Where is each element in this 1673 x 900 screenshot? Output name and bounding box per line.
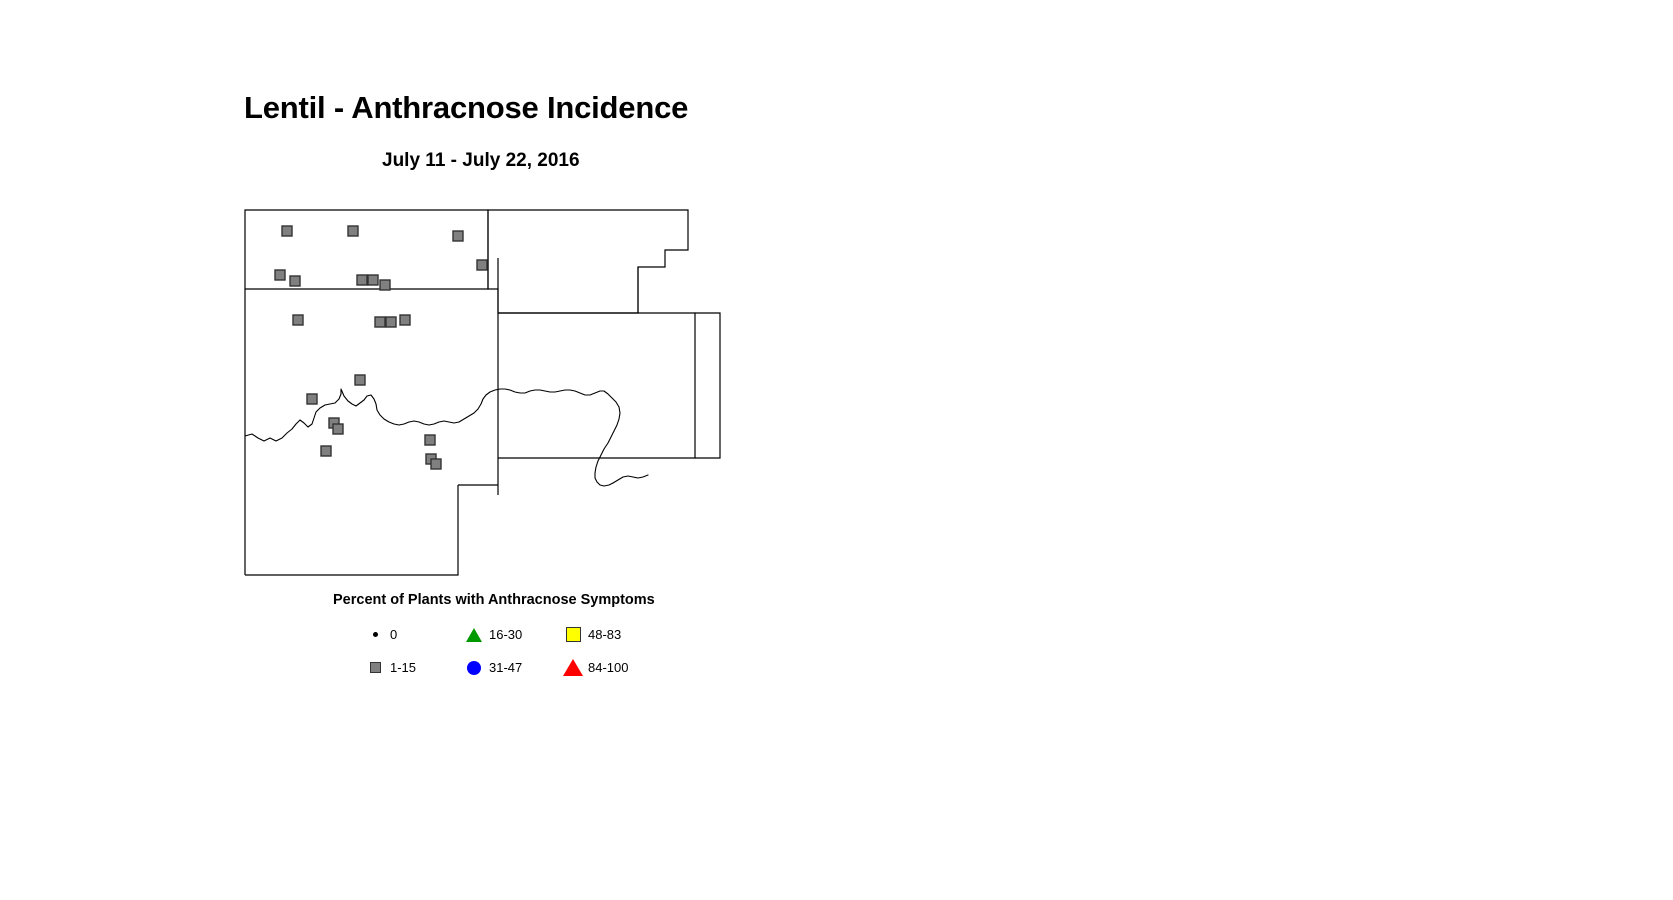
legend-row-top: 0 16-30 48-83: [360, 618, 690, 651]
legend: 0 16-30 48-83 1-15 31-47 84-100: [360, 618, 690, 684]
marker-1-15[interactable]: [333, 424, 343, 434]
boundary-west-bottom: [245, 485, 458, 575]
marker-1-15[interactable]: [425, 435, 435, 445]
marker-1-15[interactable]: [321, 446, 331, 456]
map-svg: [240, 205, 740, 590]
boundary-north-central-block: [488, 210, 688, 313]
marker-1-15[interactable]: [380, 280, 390, 290]
red-triangle-icon: [558, 659, 588, 676]
legend-item-0[interactable]: 0: [360, 627, 459, 642]
marker-1-15[interactable]: [368, 275, 378, 285]
legend-item-48-83[interactable]: 48-83: [558, 627, 657, 642]
blue-circle-icon: [459, 661, 489, 675]
legend-row-bottom: 1-15 31-47 84-100: [360, 651, 690, 684]
legend-label-84-100: 84-100: [588, 660, 628, 675]
legend-item-84-100[interactable]: 84-100: [558, 659, 657, 676]
river-boundary-east: [613, 475, 648, 483]
legend-item-1-15[interactable]: 1-15: [360, 660, 459, 675]
legend-item-31-47[interactable]: 31-47: [459, 660, 558, 675]
page-title: Lentil - Anthracnose Incidence: [244, 90, 688, 126]
marker-1-15[interactable]: [355, 375, 365, 385]
marker-1-15[interactable]: [386, 317, 396, 327]
legend-item-16-30[interactable]: 16-30: [459, 627, 558, 642]
legend-label-31-47: 31-47: [489, 660, 522, 675]
date-range-subtitle: July 11 - July 22, 2016: [382, 150, 580, 172]
marker-1-15[interactable]: [275, 270, 285, 280]
marker-1-15[interactable]: [453, 231, 463, 241]
river-path-east: [613, 475, 648, 483]
legend-label-16-30: 16-30: [489, 627, 522, 642]
marker-1-15[interactable]: [282, 226, 292, 236]
map-canvas: [240, 205, 740, 590]
marker-1-15[interactable]: [431, 459, 441, 469]
marker-1-15[interactable]: [400, 315, 410, 325]
marker-1-15[interactable]: [293, 315, 303, 325]
green-triangle-icon: [459, 628, 489, 642]
gray-square-icon: [360, 662, 390, 673]
legend-title: Percent of Plants with Anthracnose Sympt…: [333, 592, 655, 608]
boundary-east-block: [498, 313, 695, 458]
marker-1-15[interactable]: [348, 226, 358, 236]
boundary-east-right-edge: [695, 313, 720, 458]
marker-1-15[interactable]: [290, 276, 300, 286]
legend-label-48-83: 48-83: [588, 627, 621, 642]
marker-1-15[interactable]: [307, 394, 317, 404]
legend-label-0: 0: [390, 627, 397, 642]
legend-label-1-15: 1-15: [390, 660, 416, 675]
data-markers: [275, 226, 487, 469]
map-page: Lentil - Anthracnose Incidence July 11 -…: [0, 0, 1673, 900]
marker-1-15[interactable]: [477, 260, 487, 270]
marker-1-15[interactable]: [357, 275, 367, 285]
dot-icon: [360, 632, 390, 637]
yellow-square-icon: [558, 627, 588, 642]
marker-1-15[interactable]: [375, 317, 385, 327]
